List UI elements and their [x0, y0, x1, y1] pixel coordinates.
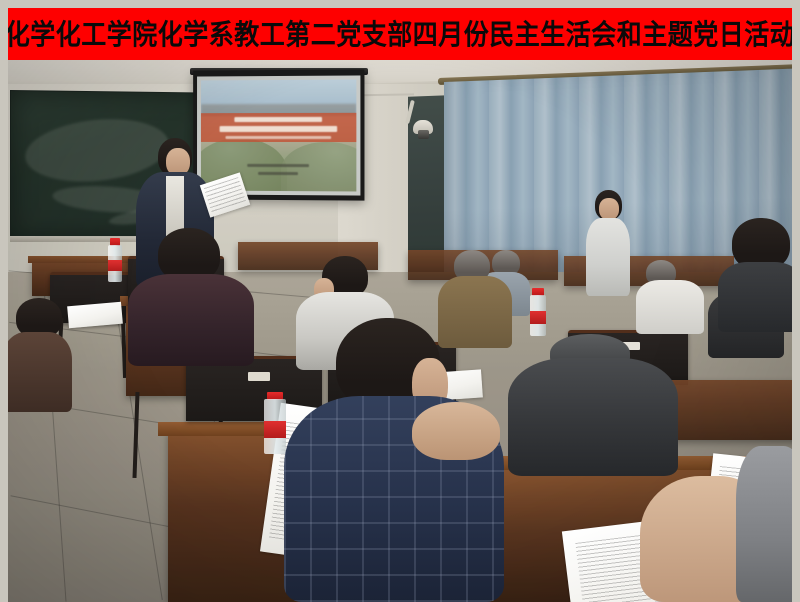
attendee-arm: [412, 402, 500, 460]
slide-text-line-1: [235, 117, 322, 122]
screenshot-root: 化学化工学院化学系教工第二党支部四月份民主生活会和主题党日活动: [0, 0, 800, 602]
attendee-body: [8, 332, 72, 412]
attendee-person: [8, 298, 72, 408]
speaker-shirt: [166, 176, 184, 236]
slide-footer-line-2: [258, 172, 298, 175]
bottle-body: [108, 245, 122, 282]
document-text: [204, 177, 246, 213]
attendee-face: [599, 198, 619, 220]
bottle-label: [108, 260, 122, 271]
standing-attendee: [586, 190, 630, 296]
presentation-slide: [201, 80, 356, 192]
attendee-person: [284, 318, 504, 602]
water-bottle: [530, 288, 546, 336]
attendee-body: [636, 280, 704, 334]
bottle-body: [264, 399, 286, 454]
slide-text-line-3: [225, 135, 331, 138]
attendee-body: [128, 274, 254, 366]
attendee-body: [586, 218, 630, 296]
meeting-photograph: [8, 60, 792, 602]
attendee-person: [636, 260, 704, 332]
attendee-body: [736, 446, 792, 602]
attendee-person: [128, 228, 254, 360]
water-bottle: [108, 238, 122, 282]
chair-label-tag: [248, 372, 270, 381]
attendee-person: [640, 446, 792, 602]
slide-text-line-2: [219, 125, 337, 131]
photo-composite: 化学化工学院化学系教工第二党支部四月份民主生活会和主题党日活动: [0, 0, 800, 602]
bottle-label: [264, 421, 286, 438]
bottle-body: [530, 295, 546, 336]
attendee-body: [718, 262, 792, 332]
attendee-person: [718, 218, 792, 328]
water-bottle: [264, 392, 286, 454]
title-banner: 化学化工学院化学系教工第二党支部四月份民主生活会和主题党日活动: [8, 8, 792, 60]
bottle-label: [530, 311, 546, 323]
camera-lens-icon: [418, 130, 429, 139]
banner-title-text: 化学化工学院化学系教工第二党支部四月份民主生活会和主题党日活动: [8, 20, 792, 48]
meeting-document: [67, 302, 123, 329]
